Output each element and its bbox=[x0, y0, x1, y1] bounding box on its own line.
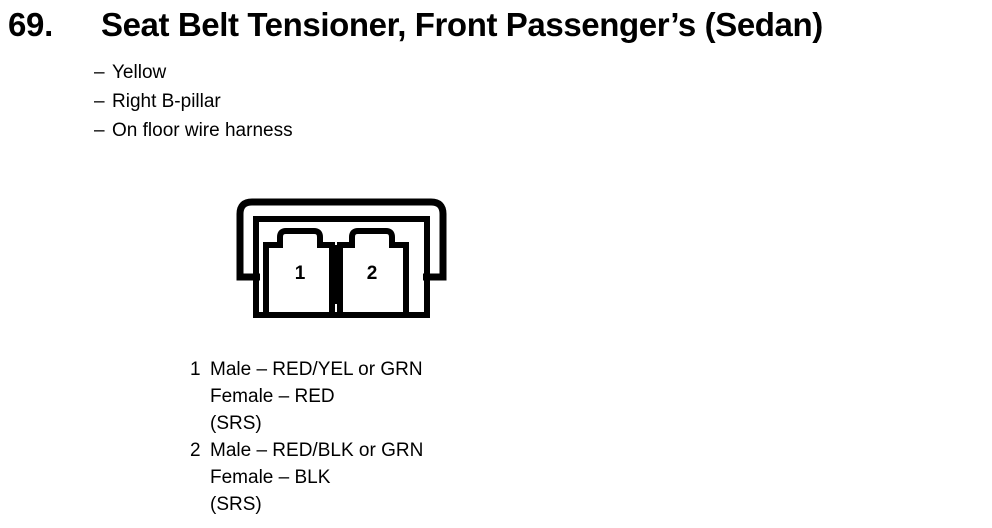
attribute-label-harness: On floor wire harness bbox=[112, 116, 594, 145]
pin-legend-line-female-1: Female – RED bbox=[210, 383, 730, 410]
cavity-number-1: 1 bbox=[295, 263, 306, 284]
pin-legend-number-1: 1 bbox=[190, 356, 210, 383]
pin-legend-lines-2: Male – RED/BLK or GRN Female – BLK (SRS) bbox=[210, 437, 730, 518]
pin-legend-line-system-1: (SRS) bbox=[210, 410, 730, 437]
cavity-number-2: 2 bbox=[367, 263, 378, 284]
attribute-label-location: Right B-pillar bbox=[112, 87, 594, 116]
pin-legend-line-female-2: Female – BLK bbox=[210, 464, 730, 491]
connector-diagram: 1 2 bbox=[230, 192, 455, 327]
connector-drawing: 1 2 bbox=[230, 192, 455, 327]
pin-legend-entry-2: 2 Male – RED/BLK or GRN Female – BLK (SR… bbox=[190, 437, 730, 518]
pin-legend-lines-1: Male – RED/YEL or GRN Female – RED (SRS) bbox=[210, 356, 730, 437]
attribute-list: – Yellow – Right B-pillar – On floor wir… bbox=[94, 58, 594, 145]
pin-legend-number-2: 2 bbox=[190, 437, 210, 464]
attribute-item-color: – Yellow bbox=[94, 58, 594, 87]
pin-legend-entry-1: 1 Male – RED/YEL or GRN Female – RED (SR… bbox=[190, 356, 730, 437]
attribute-item-location: – Right B-pillar bbox=[94, 87, 594, 116]
page-title: Seat Belt Tensioner, Front Passenger’s (… bbox=[101, 5, 823, 45]
dash-bullet-icon: – bbox=[94, 87, 112, 116]
pin-legend: 1 Male – RED/YEL or GRN Female – RED (SR… bbox=[190, 356, 730, 518]
dash-bullet-icon: – bbox=[94, 116, 112, 145]
attribute-label-color: Yellow bbox=[112, 58, 594, 87]
attribute-item-harness: – On floor wire harness bbox=[94, 116, 594, 145]
pin-legend-line-male-1: Male – RED/YEL or GRN bbox=[210, 356, 730, 383]
pin-legend-line-system-2: (SRS) bbox=[210, 491, 730, 518]
dash-bullet-icon: – bbox=[94, 58, 112, 87]
item-number: 69. bbox=[8, 5, 53, 45]
page-title-row: 69. Seat Belt Tensioner, Front Passenger… bbox=[8, 5, 988, 47]
pin-legend-line-male-2: Male – RED/BLK or GRN bbox=[210, 437, 730, 464]
